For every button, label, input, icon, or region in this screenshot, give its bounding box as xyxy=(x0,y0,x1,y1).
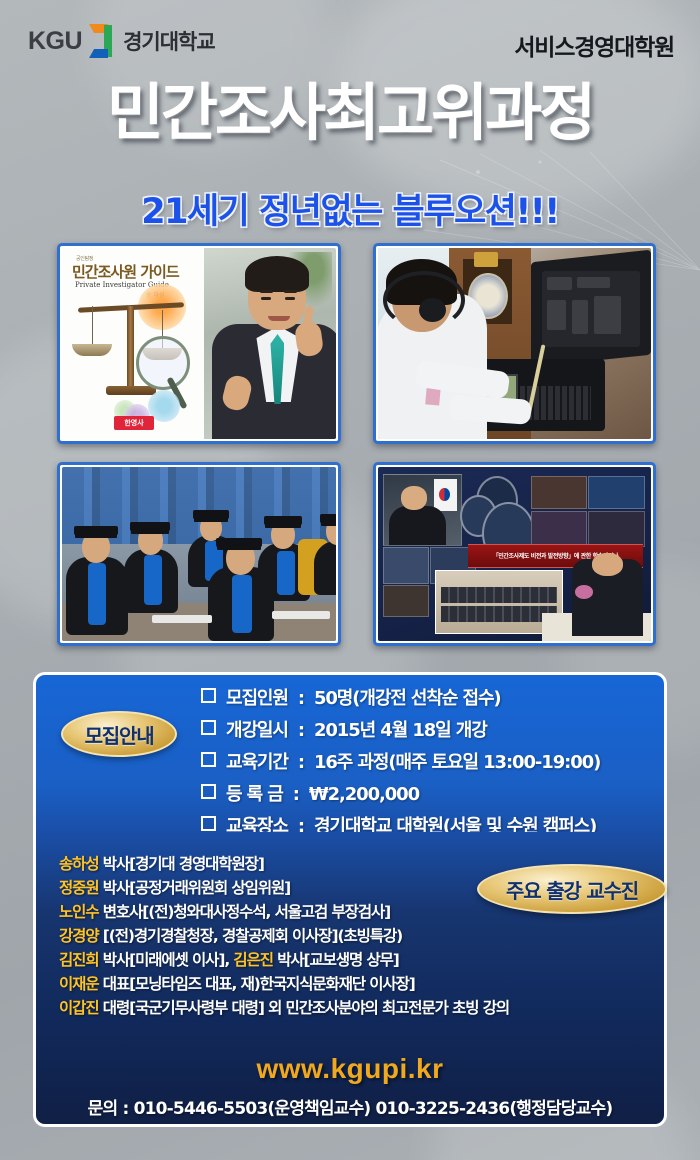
faculty-list: 송하성 박사[경기대 경영대학원장]정중원 박사[공정거래위원회 상임위원]노인… xyxy=(59,852,659,1020)
info-separator: : xyxy=(298,722,304,740)
info-separator: : xyxy=(293,786,299,804)
faculty-row: 송하성 박사[경기대 경영대학원장] xyxy=(59,852,659,876)
book-and-lecturer-photo: 공인탐정 민간조사원 가이드 Private Investigator Guid… xyxy=(57,243,341,444)
checkbox-icon xyxy=(201,816,216,831)
info-label: 개강일시 xyxy=(226,722,288,740)
info-label: 등 록 금 xyxy=(226,786,283,804)
checkbox-icon xyxy=(201,784,216,799)
info-label: 모집인원 xyxy=(226,690,288,708)
faculty-name: 이갑진 xyxy=(59,999,98,1017)
faculty-description: 변호사[(전)청와대사정수석, 서울고검 부장검사] xyxy=(98,903,390,921)
book-cover-image: 공인탐정 민간조사원 가이드 Private Investigator Guid… xyxy=(62,248,204,439)
info-separator: : xyxy=(298,754,304,772)
faculty-row: 김진희 박사[미래에셋 이사], 김은진 박사[교보생명 상무] xyxy=(59,948,659,972)
graduation-ceremony-photo xyxy=(57,462,341,646)
info-row: 모집인원 : 50명(개강전 선착순 접수) xyxy=(201,689,661,708)
info-value: 16주 과정(매주 토요일 13:00-19:00) xyxy=(314,754,600,772)
faculty-description: 박사[미래에셋 이사], xyxy=(98,951,233,969)
checkbox-icon xyxy=(201,752,216,767)
info-row: 교육기간 : 16주 과정(매주 토요일 13:00-19:00) xyxy=(201,753,661,772)
info-value: 2015년 4월 18일 개강 xyxy=(314,722,487,740)
faculty-name: 김진희 xyxy=(59,951,98,969)
kgu-logo: KGU 경기대학교 xyxy=(28,24,215,58)
info-row: 등 록 금 : ₩2,200,000 xyxy=(201,785,661,804)
faculty-name: 이재운 xyxy=(59,975,98,993)
lecturer-portrait xyxy=(204,248,336,439)
faculty-name: 노인수 xyxy=(59,903,98,921)
faculty-description: 박사[공정거래위원회 상임위원] xyxy=(98,879,290,897)
poster-root: KGU 경기대학교 서비스경영대학원 민간조사최고위과정 21세기 정년없는 블… xyxy=(0,0,700,1160)
contact-info: 문의 : 010-5446-5503(운영책임교수) 010-3225-2436… xyxy=(36,1094,664,1119)
info-separator: : xyxy=(298,690,304,708)
faculty-row: 이갑진 대령[국군기무사령부 대령] 외 민간조사분야의 최고전문가 초빙 강의 xyxy=(59,996,659,1020)
book-publisher-text: 한영사 xyxy=(114,416,154,430)
university-name: 경기대학교 xyxy=(123,26,215,56)
faculty-row: 강경양 [(전)경기경찰청장, 경찰공제회 이사장](초빙특강) xyxy=(59,924,659,948)
faculty-name: 김은진 xyxy=(233,951,272,969)
faculty-description: 박사[경기대 경영대학원장] xyxy=(98,855,263,873)
faculty-row: 이재운 대표[모닝타임즈 대표, 재)한국지식문화재단 이사장] xyxy=(59,972,659,996)
faculty-description: 대령[국군기무사령부 대령] 외 민간조사분야의 최고전문가 초빙 강의 xyxy=(98,999,509,1017)
surveillance-equipment-photo xyxy=(373,243,656,444)
book-publisher-badge: 한영사 xyxy=(114,416,154,430)
faculty-description: 대표[모닝타임즈 대표, 재)한국지식문화재단 이사장] xyxy=(98,975,414,993)
seminar-collage-photo: 「민간조사제도 비전과 발전방향」에 관한 학술세미나 xyxy=(373,462,656,646)
logo-kgu-text: KGU xyxy=(28,27,82,56)
faculty-name: 정중원 xyxy=(59,879,98,897)
graduate-school-name: 서비스경영대학원 xyxy=(514,28,674,62)
faculty-row: 정중원 박사[공정거래위원회 상임위원] xyxy=(59,876,659,900)
info-label: 교육기간 xyxy=(226,754,288,772)
recruitment-badge: 모집안내 xyxy=(61,711,177,757)
info-value: ₩2,200,000 xyxy=(309,786,419,804)
kgu-bracket-mark-icon xyxy=(89,24,112,58)
faculty-name: 송하성 xyxy=(59,855,98,873)
book-title-text: 민간조사원 가이드 xyxy=(72,261,179,282)
recruitment-info-panel: 모집안내 모집인원 : 50명(개강전 선착순 접수) 개강일시 : 2015년… xyxy=(33,672,667,832)
page-title: 민간조사최고위과정 xyxy=(0,82,700,144)
page-subtitle: 21세기 정년없는 블루오션!!! xyxy=(0,183,700,234)
info-row: 개강일시 : 2015년 4월 18일 개강 xyxy=(201,721,661,740)
website-link[interactable]: www.kgupi.kr xyxy=(36,1053,664,1085)
faculty-description: 박사[교보생명 상무] xyxy=(273,951,399,969)
faculty-row: 노인수 변호사[(전)청와대사정수석, 서울고검 부장검사] xyxy=(59,900,659,924)
poster-header: KGU 경기대학교 서비스경영대학원 xyxy=(0,0,700,78)
faculty-name: 강경양 xyxy=(59,927,98,945)
faculty-panel: 주요 출강 교수진 송하성 박사[경기대 경영대학원장]정중원 박사[공정거래위… xyxy=(33,832,667,1127)
checkbox-icon xyxy=(201,720,216,735)
faculty-description: [(전)경기경찰청장, 경찰공제회 이사장](초빙특강) xyxy=(98,927,402,945)
checkbox-icon xyxy=(201,688,216,703)
info-value: 50명(개강전 선착순 접수) xyxy=(314,690,501,708)
recruitment-info-list: 모집인원 : 50명(개강전 선착순 접수) 개강일시 : 2015년 4월 1… xyxy=(201,689,661,849)
